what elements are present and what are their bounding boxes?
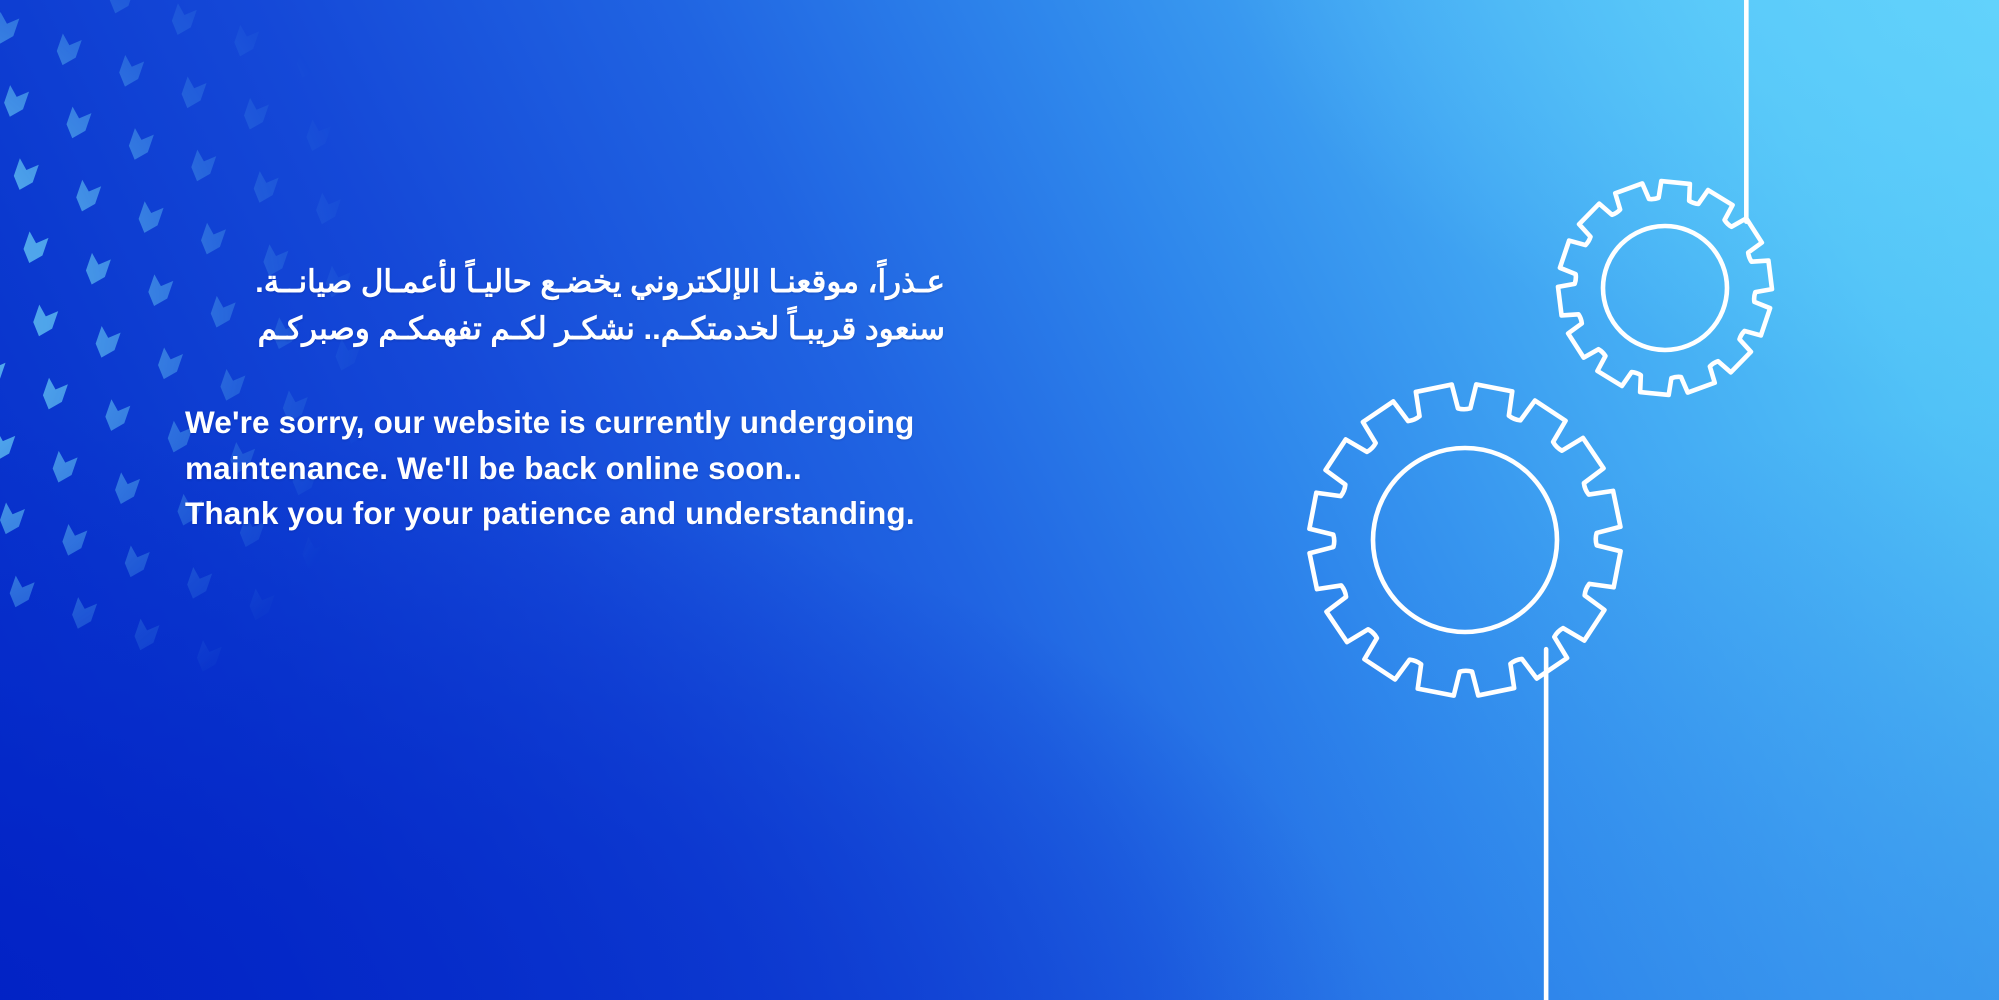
maintenance-page: عـذراً، موقعنـا الإلكتروني يخضـع حاليـاً… — [0, 0, 1999, 1000]
arabic-message: عـذراً، موقعنـا الإلكتروني يخضـع حاليـاً… — [185, 258, 945, 352]
english-message: We're sorry, our website is currently un… — [185, 400, 945, 536]
arabic-line-2: سنعود قريبـاً لخدمتكـم.. نشكـر لكـم تفهم… — [185, 305, 945, 352]
english-line-2: maintenance. We'll be back online soon.. — [185, 446, 945, 491]
message-block: عـذراً، موقعنـا الإلكتروني يخضـع حاليـاً… — [185, 258, 945, 536]
arabic-line-1: عـذراً، موقعنـا الإلكتروني يخضـع حاليـاً… — [185, 258, 945, 305]
english-line-1: We're sorry, our website is currently un… — [185, 400, 945, 445]
english-line-3: Thank you for your patience and understa… — [185, 491, 945, 536]
